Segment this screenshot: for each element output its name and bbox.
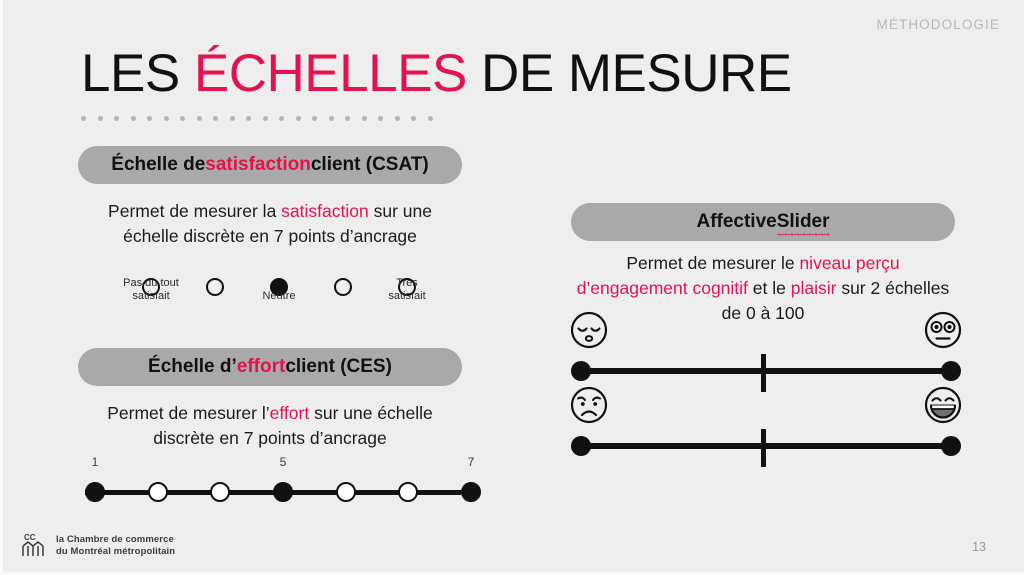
slider-knob-left[interactable] bbox=[571, 436, 591, 456]
footer-logo-line-1: la Chambre de commerce bbox=[56, 534, 175, 546]
affective-slider-arousal[interactable] bbox=[571, 310, 961, 382]
ces-desc-highlight: effort bbox=[270, 403, 310, 423]
divider-dot bbox=[345, 116, 350, 121]
ces-point[interactable] bbox=[210, 482, 230, 502]
csat-option[interactable] bbox=[331, 278, 355, 302]
ces-pill-part-2: client (CES) bbox=[285, 356, 392, 378]
cc-monogram-icon: CC bbox=[19, 530, 49, 560]
slider-pill-part-1: Affective bbox=[696, 211, 776, 233]
ces-point[interactable] bbox=[148, 482, 168, 502]
affective-slider-valence[interactable] bbox=[571, 385, 961, 457]
divider-dot bbox=[180, 116, 185, 121]
csat-radio[interactable] bbox=[206, 278, 224, 296]
footer-logo: CC la Chambre de commerce du Montréal mé… bbox=[19, 530, 175, 560]
divider-dot bbox=[147, 116, 152, 121]
ces-point-number: 1 bbox=[75, 455, 115, 469]
divider-dot bbox=[263, 116, 268, 121]
csat-option-label: Trèssatisfait bbox=[357, 277, 457, 303]
csat-pill-highlight: satisfaction bbox=[205, 154, 311, 176]
ces-pill-highlight: effort bbox=[237, 356, 286, 378]
csat-desc-part-1: Permet de mesurer la bbox=[108, 201, 281, 221]
divider-dot bbox=[98, 116, 103, 121]
sleepy-face-icon bbox=[569, 310, 609, 350]
slider-midpoint-tick bbox=[761, 429, 766, 467]
ces-point-filled[interactable] bbox=[461, 482, 481, 502]
ces-point[interactable] bbox=[336, 482, 356, 502]
affective-slider-section-header: Affective Slider bbox=[571, 203, 955, 241]
happy-face-icon bbox=[923, 385, 963, 425]
csat-option[interactable]: Trèssatisfait bbox=[395, 278, 419, 302]
csat-description: Permet de mesurer la satisfaction sur un… bbox=[78, 199, 462, 249]
slider-track bbox=[579, 443, 953, 449]
title-highlight: ÉCHELLES bbox=[194, 44, 467, 103]
csat-option[interactable] bbox=[203, 278, 227, 302]
sad-face-icon bbox=[569, 385, 609, 425]
ces-section-header: Échelle d’effort client (CES) bbox=[78, 348, 462, 386]
divider-dot bbox=[279, 116, 284, 121]
title-part-1: LES bbox=[81, 44, 194, 103]
csat-option[interactable]: Pas du toutsatisfait bbox=[139, 278, 163, 302]
divider-dot bbox=[197, 116, 202, 121]
dotted-divider bbox=[81, 113, 433, 123]
svg-text:CC: CC bbox=[24, 533, 36, 542]
divider-dot bbox=[230, 116, 235, 121]
ces-point-number: 7 bbox=[451, 455, 491, 469]
title-part-2: DE MESURE bbox=[467, 44, 792, 103]
footer-logo-text: la Chambre de commerce du Montréal métro… bbox=[56, 534, 175, 560]
slider-desc-part-2: et le bbox=[748, 278, 791, 298]
ces-pill-part-1: Échelle d’ bbox=[148, 356, 237, 378]
divider-dot bbox=[164, 116, 169, 121]
csat-option-label: Neutre bbox=[229, 290, 329, 303]
ces-desc-part-1: Permet de mesurer l’ bbox=[107, 403, 269, 423]
divider-dot bbox=[362, 116, 367, 121]
slider-knob-left[interactable] bbox=[571, 361, 591, 381]
divider-dot bbox=[114, 116, 119, 121]
slider-track bbox=[579, 368, 953, 374]
divider-dot bbox=[395, 116, 400, 121]
csat-pill-part-1: Échelle de bbox=[111, 154, 205, 176]
divider-dot bbox=[378, 116, 383, 121]
wide-awake-face-icon bbox=[923, 310, 963, 350]
slider-desc-highlight-2: plaisir bbox=[791, 278, 837, 298]
csat-radio[interactable] bbox=[334, 278, 352, 296]
divider-dot bbox=[246, 116, 251, 121]
slider-pill-spellchecked-word: Slider bbox=[777, 211, 830, 233]
slider-desc-part-1: Permet de mesurer le bbox=[626, 253, 799, 273]
csat-desc-highlight: satisfaction bbox=[281, 201, 369, 221]
ces-description: Permet de mesurer l’effort sur une échel… bbox=[78, 401, 462, 451]
slide: MÉTHODOLOGIE LES ÉCHELLES DE MESURE Éche… bbox=[0, 0, 1024, 575]
divider-dot bbox=[213, 116, 218, 121]
divider-dot bbox=[329, 116, 334, 121]
slider-knob-right[interactable] bbox=[941, 436, 961, 456]
ces-point-filled[interactable] bbox=[273, 482, 293, 502]
section-kicker: MÉTHODOLOGIE bbox=[877, 17, 1000, 32]
page-title: LES ÉCHELLES DE MESURE bbox=[81, 44, 792, 104]
divider-dot bbox=[296, 116, 301, 121]
divider-dot bbox=[131, 116, 136, 121]
csat-option[interactable]: Neutre bbox=[267, 278, 291, 302]
divider-dot bbox=[411, 116, 416, 121]
divider-dot bbox=[428, 116, 433, 121]
ces-scale[interactable]: 157 bbox=[85, 455, 465, 505]
footer-logo-line-2: du Montréal métropolitain bbox=[56, 546, 175, 558]
csat-option-label: Pas du toutsatisfait bbox=[101, 277, 201, 303]
ces-point[interactable] bbox=[398, 482, 418, 502]
slider-knob-right[interactable] bbox=[941, 361, 961, 381]
csat-pill-part-2: client (CSAT) bbox=[311, 154, 429, 176]
ces-point-filled[interactable] bbox=[85, 482, 105, 502]
divider-dot bbox=[81, 116, 86, 121]
ces-point-number: 5 bbox=[263, 455, 303, 469]
csat-section-header: Échelle de satisfaction client (CSAT) bbox=[78, 146, 462, 184]
csat-scale[interactable]: Pas du toutsatisfaitNeutreTrèssatisfait bbox=[83, 246, 483, 316]
divider-dot bbox=[312, 116, 317, 121]
page-number: 13 bbox=[972, 540, 986, 554]
